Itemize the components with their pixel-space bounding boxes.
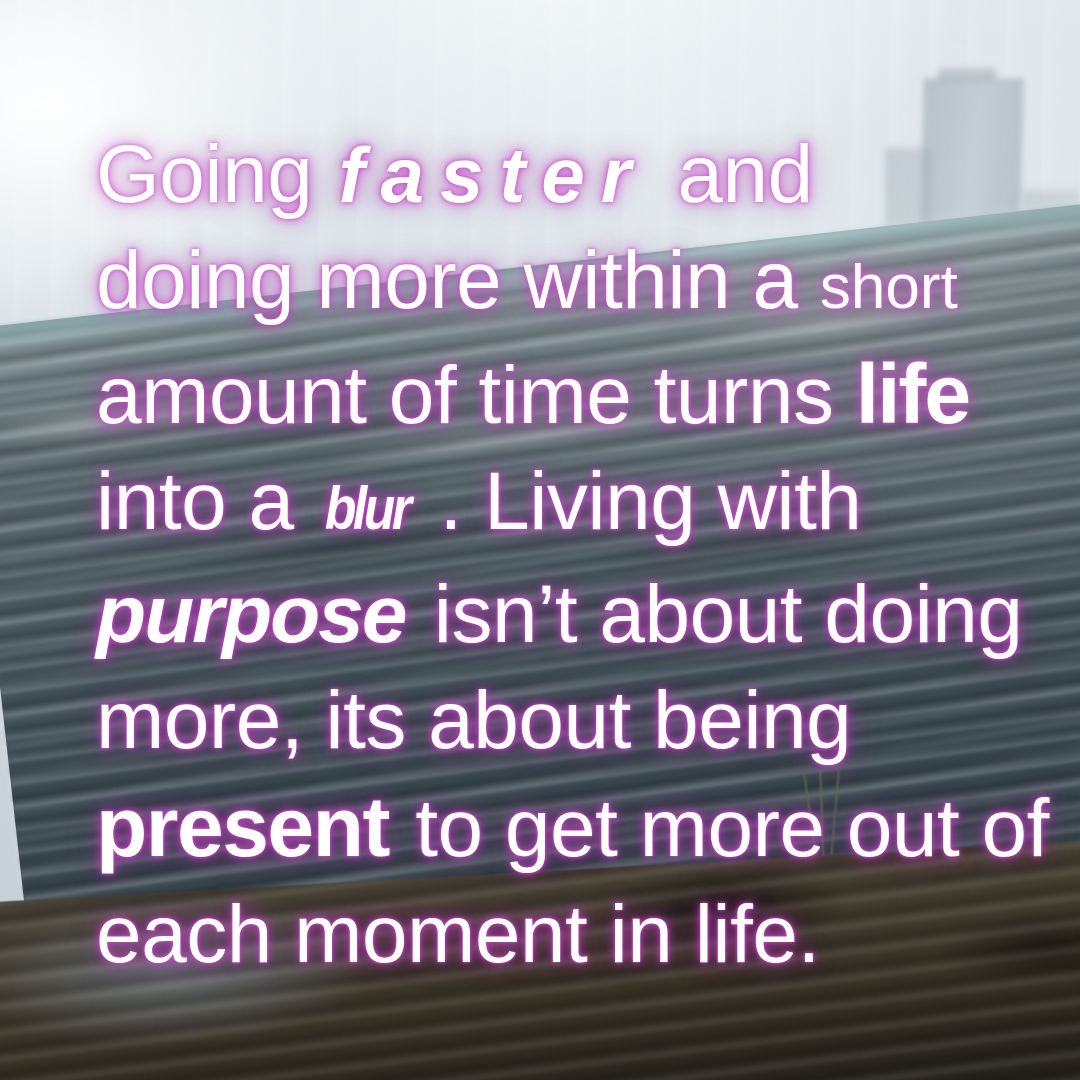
quote-word-and: and — [677, 122, 812, 228]
quote-line-3: amount of time turns life — [96, 341, 1046, 449]
quote-word-faster: faster — [335, 122, 655, 228]
quote-word-blur: blur — [323, 456, 410, 562]
quote-line-4: into a blur . Living with — [96, 449, 1046, 562]
quote-word-life: life — [856, 341, 969, 447]
quote-line-7: present to get more out of — [96, 774, 1046, 882]
quote-word-going: Going — [96, 122, 312, 228]
quote-phrase-each-moment-in-life: each moment in life. — [96, 882, 820, 988]
quote-phrase-amount-of-time-turns: amount of time turns — [96, 343, 833, 449]
quote-line-6: more, its about being — [96, 668, 1046, 774]
quote-phrase-more-its-about-being: more, its about being — [96, 668, 851, 774]
quote-phrase-living-with: . Living with — [440, 449, 862, 555]
quote-phrase-into-a: into a — [96, 449, 294, 555]
quote-word-present: present — [96, 774, 393, 880]
quote-line-1: Going faster and — [96, 122, 1046, 228]
quote-line-2: doing more within a short — [96, 228, 1046, 341]
quote-phrase-doing-more-within-a: doing more within a — [96, 228, 798, 334]
quote-phrase-isnt-about-doing: isn’t about doing — [434, 562, 1023, 668]
quote-line-5: purpose isn’t about doing — [96, 562, 1046, 668]
quote-phrase-to-get-more-out-of: to get more out of — [415, 776, 1049, 882]
quote-line-8: each moment in life. — [96, 882, 1046, 988]
quote-word-short: short — [820, 235, 958, 341]
quote-text-block: Going faster and doing more within a sho… — [96, 122, 1046, 988]
quote-poster: Going faster and doing more within a sho… — [0, 0, 1080, 1080]
quote-word-purpose: purpose — [96, 562, 411, 668]
